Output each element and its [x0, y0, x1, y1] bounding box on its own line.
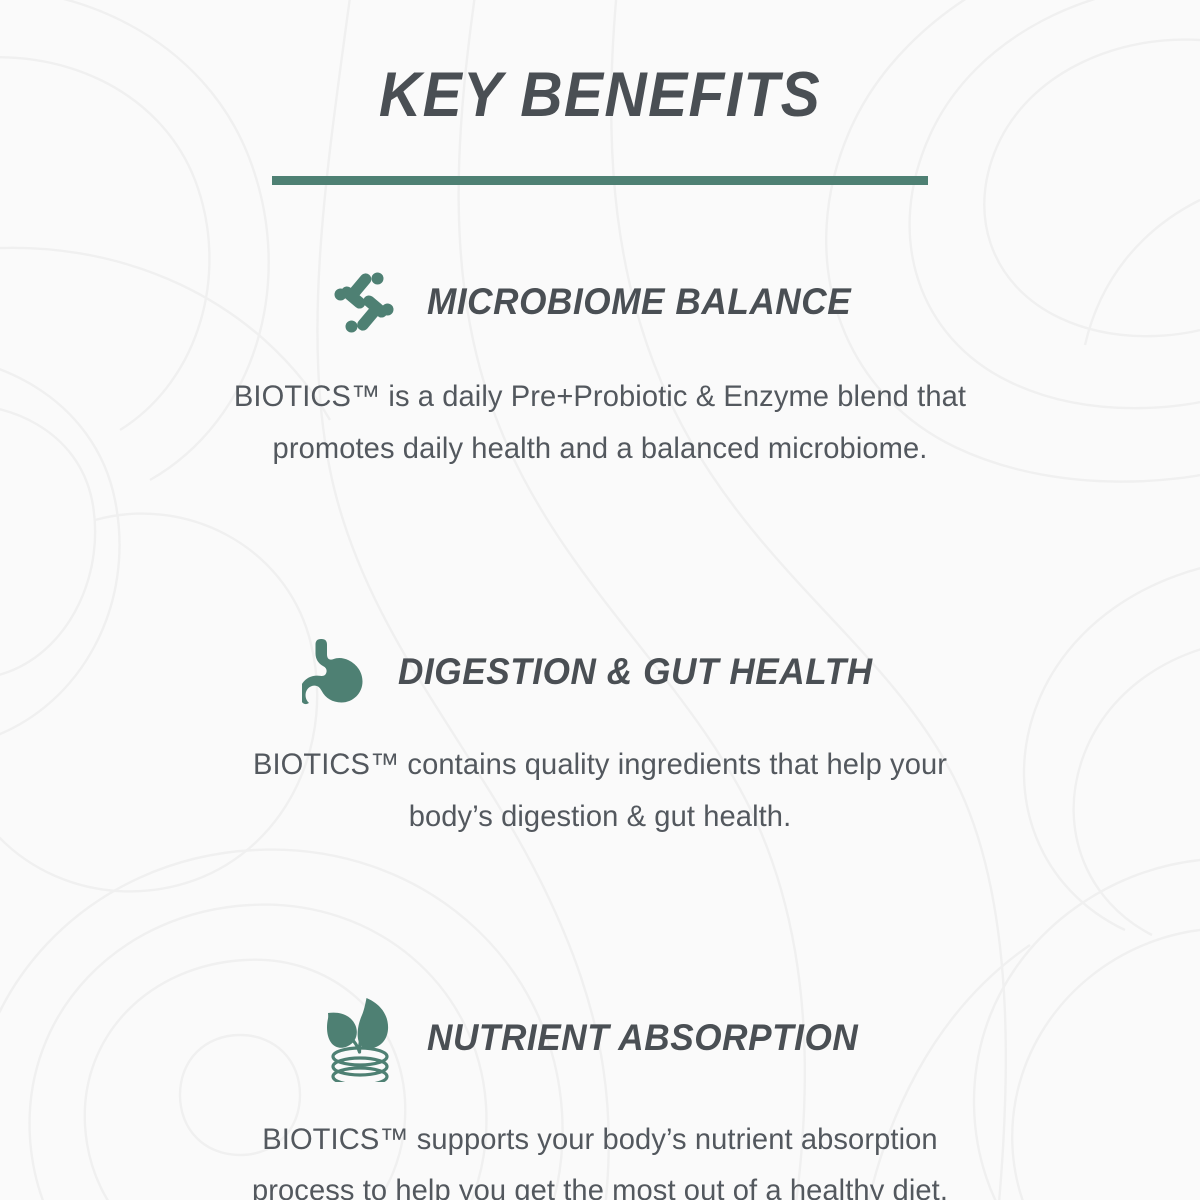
benefit-item-microbiome-balance: MICROBIOME BALANCE BIOTICS™ is a daily P…: [0, 185, 1200, 474]
page-title: KEY BENEFITS: [42, 0, 1158, 128]
title-divider-rule: [272, 176, 928, 185]
benefit-title: DIGESTION & GUT HEALTH: [398, 652, 873, 693]
stomach-icon: [302, 637, 372, 707]
microbiome-cluster-icon: [327, 265, 401, 339]
benefit-header: DIGESTION & GUT HEALTH: [0, 637, 1200, 707]
benefit-header: MICROBIOME BALANCE: [0, 265, 1200, 339]
key-benefits-panel: KEY BENEFITS: [0, 0, 1200, 1200]
benefit-description: BIOTICS™ contains quality ingredients th…: [134, 739, 1065, 842]
benefit-description-line: promotes daily health and a balanced mic…: [134, 423, 1065, 475]
benefit-description-line: BIOTICS™ is a daily Pre+Probiotic & Enzy…: [134, 371, 1065, 423]
benefit-description-line: body’s digestion & gut health.: [134, 791, 1065, 843]
benefit-title: MICROBIOME BALANCE: [427, 282, 851, 323]
content-container: KEY BENEFITS: [0, 0, 1200, 1200]
benefit-item-nutrient-absorption: NUTRIENT ABSORPTION BIOTICS™ supports yo…: [0, 843, 1200, 1200]
sprout-coins-icon: [319, 996, 401, 1082]
benefit-title: NUTRIENT ABSORPTION: [427, 1018, 858, 1059]
benefit-header: NUTRIENT ABSORPTION: [0, 996, 1200, 1082]
benefit-description-line: BIOTICS™ contains quality ingredients th…: [134, 739, 1065, 791]
benefit-description-line: BIOTICS™ supports your body’s nutrient a…: [134, 1114, 1065, 1166]
benefits-list: MICROBIOME BALANCE BIOTICS™ is a daily P…: [0, 185, 1200, 1200]
benefit-description: BIOTICS™ is a daily Pre+Probiotic & Enzy…: [134, 371, 1065, 474]
benefit-item-digestion-gut-health: DIGESTION & GUT HEALTH BIOTICS™ contains…: [0, 474, 1200, 842]
benefit-description-line: process to help you get the most out of …: [134, 1165, 1065, 1200]
benefit-description: BIOTICS™ supports your body’s nutrient a…: [134, 1114, 1065, 1200]
